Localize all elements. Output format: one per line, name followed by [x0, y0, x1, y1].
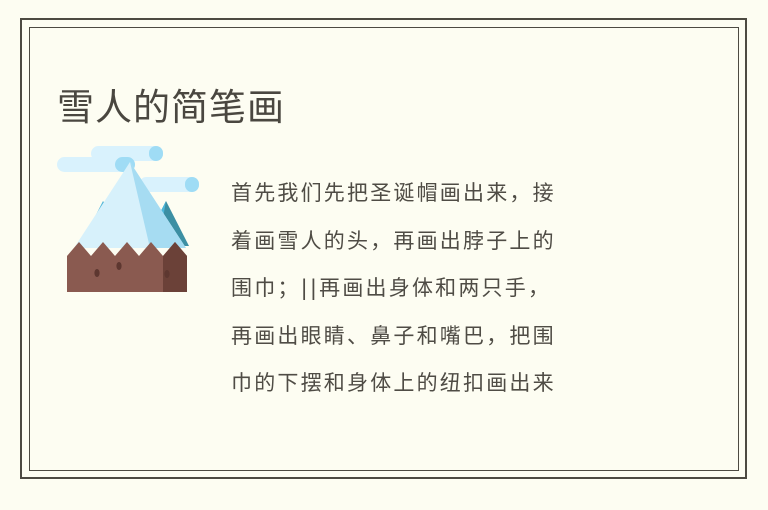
body-line: 围巾；||再画出身体和两只手， [231, 265, 651, 313]
body-line: 首先我们先把圣诞帽画出来，接 [231, 170, 651, 218]
article-card: 雪人的简笔画 [0, 0, 768, 510]
page-title: 雪人的简笔画 [57, 85, 285, 131]
rock-dot [94, 269, 99, 277]
snow-mountain-illustration [57, 144, 203, 294]
body-line: 巾的下摆和身体上的纽扣画出来 [231, 360, 651, 408]
rock-base [67, 242, 187, 292]
center-snow-peak [74, 162, 186, 248]
body-line: 着画雪人的头，再画出脖子上的 [231, 218, 651, 266]
body-line: 再画出眼睛、鼻子和嘴巴，把围 [231, 313, 651, 361]
rock-dot [116, 262, 121, 270]
article-body: 首先我们先把圣诞帽画出来，接 着画雪人的头，再画出脖子上的 围巾；||再画出身体… [231, 170, 651, 408]
rock-dot [164, 270, 169, 278]
